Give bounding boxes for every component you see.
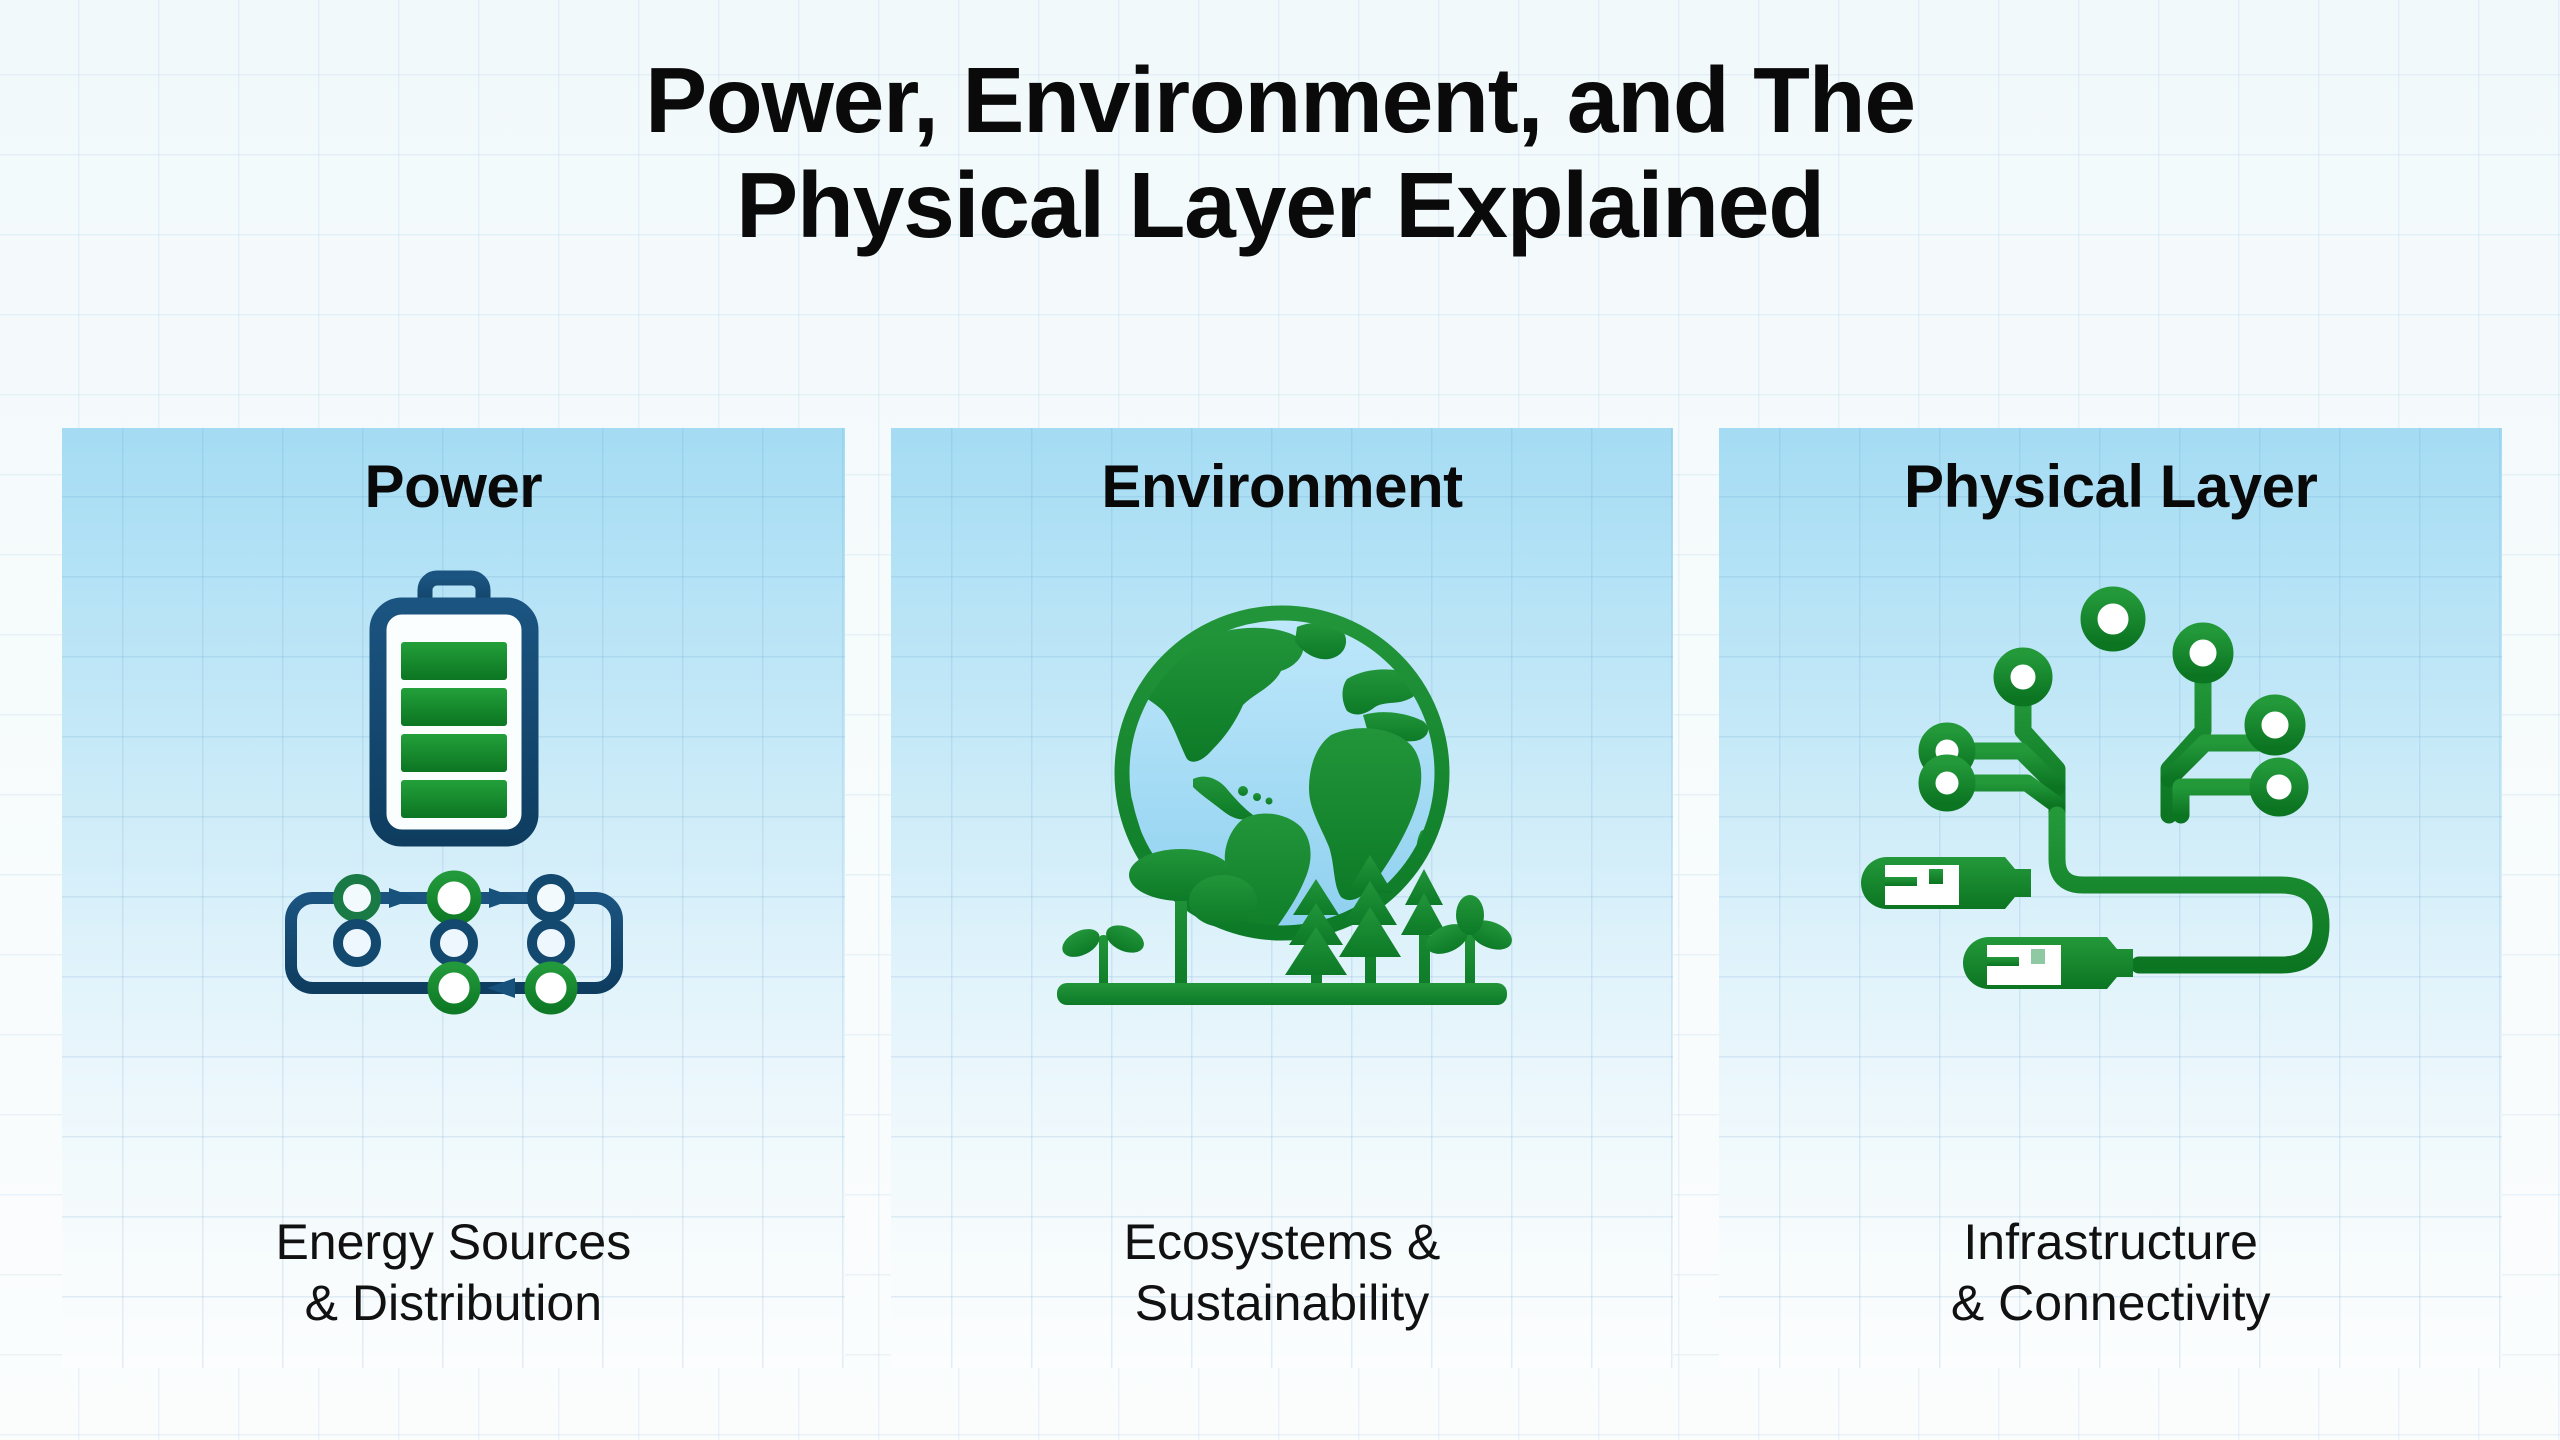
usb-pin [1987, 957, 2019, 966]
battery-distribution-icon [193, 568, 713, 1038]
circuit-node [1927, 763, 1967, 803]
page-title: Power, Environment, and The Physical Lay… [0, 48, 2560, 258]
panel-caption-physical-layer: Infrastructure & Connectivity [1719, 1212, 2502, 1334]
node-ring-primary [432, 876, 476, 920]
panel-art-environment [891, 558, 1674, 1048]
circuit-node [2253, 703, 2297, 747]
leaf [1058, 923, 1104, 962]
usb-pin [1929, 869, 1943, 884]
flow-arrow-left [487, 978, 515, 998]
flow-arrow-right [389, 888, 417, 908]
tree-canopy [1189, 875, 1257, 927]
panel-row: Power [62, 428, 2502, 1368]
panel-physical-layer[interactable]: Physical Layer [1719, 428, 2502, 1368]
battery-bar [401, 688, 507, 726]
panel-art-power [62, 558, 845, 1048]
leaf [1456, 895, 1484, 935]
infographic-canvas: Power, Environment, and The Physical Lay… [0, 0, 2560, 1440]
battery-bar [401, 780, 507, 818]
node-ring [532, 924, 570, 962]
node-ring [532, 879, 570, 917]
usb-connector-upper [1861, 857, 2031, 909]
circuit-node [2089, 595, 2137, 643]
usb-pin [2031, 949, 2045, 964]
panel-power[interactable]: Power [62, 428, 845, 1368]
circuit-cable-icon [1851, 573, 2371, 1033]
circuit-node [2002, 656, 2044, 698]
node-ring [338, 924, 376, 962]
battery-bar [401, 642, 507, 680]
panel-caption-environment: Ecosystems & Sustainability [891, 1212, 1674, 1334]
panel-heading-physical-layer: Physical Layer [1719, 452, 2502, 521]
panel-environment[interactable]: Environment [891, 428, 1674, 1368]
panel-art-physical-layer [1719, 558, 2502, 1048]
circuit-node [2258, 766, 2300, 808]
panel-heading-power: Power [62, 452, 845, 521]
globe-with-plants-icon [1047, 583, 1517, 1023]
battery-bar [401, 734, 507, 772]
panel-caption-power: Energy Sources & Distribution [62, 1212, 845, 1334]
usb-connector-lower [1963, 937, 2133, 989]
ground-line [1057, 983, 1507, 1005]
circuit-node [2181, 631, 2225, 675]
usb-pin [1885, 877, 1917, 886]
leaf [1102, 920, 1148, 958]
node-ring [435, 924, 473, 962]
panel-heading-environment: Environment [891, 452, 1674, 521]
node-ring-primary [530, 967, 572, 1009]
node-ring-primary [433, 967, 475, 1009]
flow-arrow-right [489, 888, 517, 908]
node-ring [338, 879, 376, 917]
